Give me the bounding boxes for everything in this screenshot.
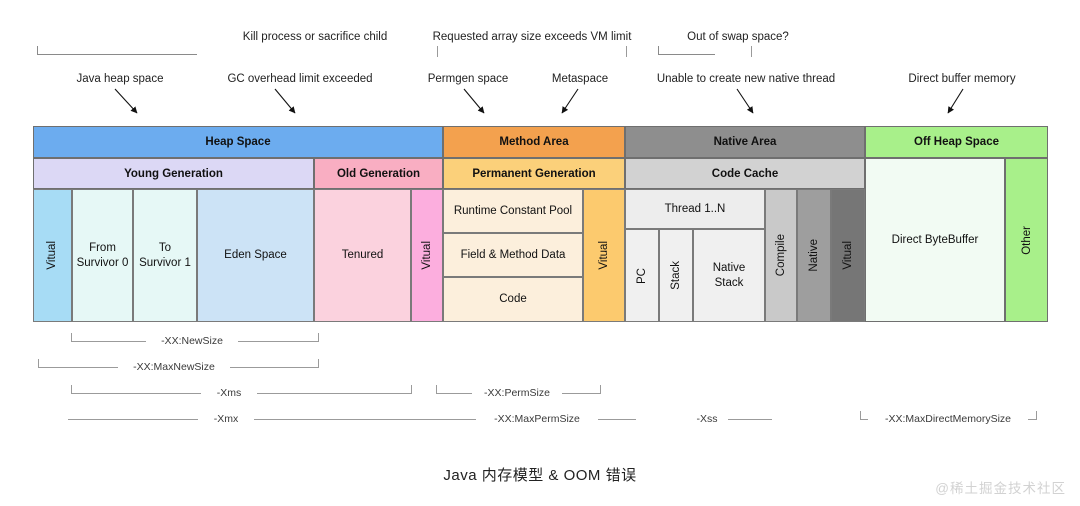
flag-label-maxnewsize: -XX:MaxNewSize	[118, 360, 230, 374]
cell-stack[interactable]: Stack	[659, 229, 693, 322]
watermark: @稀土掘金技术社区	[935, 477, 1066, 497]
cell-pc[interactable]: PC	[625, 229, 659, 322]
flag-label-maxdirectmemorysize: -XX:MaxDirectMemorySize	[868, 412, 1028, 426]
flag-label-xss: -Xss	[686, 412, 728, 426]
cell-heap-virtual[interactable]: Vitual	[33, 189, 72, 322]
memory-map: Heap Space Method Area Native Area Off H…	[33, 126, 1048, 322]
cell-field-method-data-label: Field & Method Data	[461, 248, 566, 262]
region-heap-space-label: Heap Space	[205, 136, 270, 148]
cell-field-method-data[interactable]: Field & Method Data	[443, 233, 583, 277]
cell-other[interactable]: Other	[1005, 158, 1048, 322]
region-native-area[interactable]: Native Area	[625, 126, 865, 158]
generation-permanent-label: Permanent Generation	[472, 168, 595, 180]
cell-thread-1-n-label: Thread 1..N	[665, 202, 726, 216]
flag-label-permsize: -XX:PermSize	[472, 386, 562, 400]
cell-tenured-label: Tenured	[342, 248, 384, 262]
tick-native-thread	[751, 46, 752, 57]
generation-permanent[interactable]: Permanent Generation	[443, 158, 625, 189]
flag-label-xmx: -Xmx	[198, 412, 254, 426]
region-off-heap-space-label: Off Heap Space	[914, 136, 999, 148]
cell-native-stack[interactable]: Native Stack	[693, 229, 765, 322]
flag-label-xms: -Xms	[201, 386, 257, 400]
region-heap-space[interactable]: Heap Space	[33, 126, 443, 158]
tick-permgen-space	[437, 46, 438, 57]
flag-row-xmx: -Xmx -XX:MaxPermSize -Xss -XX:MaxDirectM…	[0, 411, 1080, 427]
cell-native-virtual[interactable]: Vitual	[831, 189, 865, 322]
cell-old-virtual[interactable]: Vitual	[411, 189, 443, 322]
flag-label-newsize: -XX:NewSize	[146, 334, 238, 348]
cell-compile[interactable]: Compile	[765, 189, 797, 322]
bracket-native-thread	[658, 46, 715, 55]
oom-arrow-group	[0, 84, 1080, 126]
arrow-native-thread	[737, 89, 753, 113]
arrow-permgen-space	[464, 89, 484, 113]
cell-from-survivor-0[interactable]: From Survivor 0	[72, 189, 133, 322]
cell-to-survivor-1-label: To Survivor 1	[139, 241, 191, 270]
flag-row-maxnewsize: -XX:MaxNewSize	[0, 359, 1080, 375]
cell-other-label: Other	[1021, 226, 1033, 255]
cell-from-survivor-0-label: From Survivor 0	[77, 241, 129, 270]
region-method-area[interactable]: Method Area	[443, 126, 625, 158]
arrow-java-heap-space	[115, 89, 137, 113]
cell-runtime-constant-pool-label: Runtime Constant Pool	[454, 204, 572, 218]
cell-tenured[interactable]: Tenured	[314, 189, 411, 322]
bracket-java-heap-space	[37, 46, 197, 55]
cell-code[interactable]: Code	[443, 277, 583, 322]
cell-native-virtual-label: Vitual	[841, 241, 855, 270]
cell-method-virtual-label: Vitual	[597, 241, 611, 270]
region-off-heap-space[interactable]: Off Heap Space	[865, 126, 1048, 158]
generation-young-label: Young Generation	[124, 168, 223, 180]
tick-metaspace	[626, 46, 627, 57]
arrow-gc-overhead	[275, 89, 295, 113]
cell-native[interactable]: Native	[797, 189, 831, 322]
generation-old[interactable]: Old Generation	[314, 158, 443, 189]
flag-row-xms: -Xms -XX:PermSize	[0, 385, 1080, 401]
cell-native-label: Native	[807, 239, 821, 272]
generation-old-label: Old Generation	[337, 168, 420, 180]
cell-old-virtual-label: Vitual	[420, 241, 434, 270]
jvm-memory-model-diagram: Kill process or sacrifice child Requeste…	[0, 0, 1080, 506]
cell-compile-label: Compile	[774, 234, 788, 276]
cell-runtime-constant-pool[interactable]: Runtime Constant Pool	[443, 189, 583, 233]
code-cache-label: Code Cache	[712, 168, 778, 180]
arrow-metaspace	[562, 89, 578, 113]
cell-direct-bytebuffer-label: Direct ByteBuffer	[892, 234, 979, 246]
generation-young[interactable]: Young Generation	[33, 158, 314, 189]
cell-eden-space-label: Eden Space	[224, 248, 287, 262]
cell-eden-space[interactable]: Eden Space	[197, 189, 314, 322]
diagram-caption: Java 内存模型 & OOM 错误	[0, 464, 1080, 485]
region-method-area-label: Method Area	[499, 136, 568, 148]
oom-label-swap-space: Out of swap space?	[638, 32, 838, 44]
arrow-direct-buffer	[948, 89, 963, 113]
cell-stack-label: Stack	[669, 261, 683, 290]
cell-heap-virtual-label: Vitual	[45, 241, 59, 270]
code-cache[interactable]: Code Cache	[625, 158, 865, 189]
cell-code-label: Code	[499, 292, 527, 306]
cell-method-virtual[interactable]: Vitual	[583, 189, 625, 322]
flag-row-newsize: -XX:NewSize	[0, 333, 1080, 349]
cell-native-stack-label: Native Stack	[713, 261, 746, 290]
flag-label-maxpermsize: -XX:MaxPermSize	[476, 412, 598, 426]
region-native-area-label: Native Area	[714, 136, 777, 148]
cell-thread-1-n[interactable]: Thread 1..N	[625, 189, 765, 229]
cell-direct-bytebuffer[interactable]: Direct ByteBuffer	[865, 158, 1005, 322]
cell-to-survivor-1[interactable]: To Survivor 1	[133, 189, 197, 322]
cell-pc-label: PC	[635, 268, 649, 284]
